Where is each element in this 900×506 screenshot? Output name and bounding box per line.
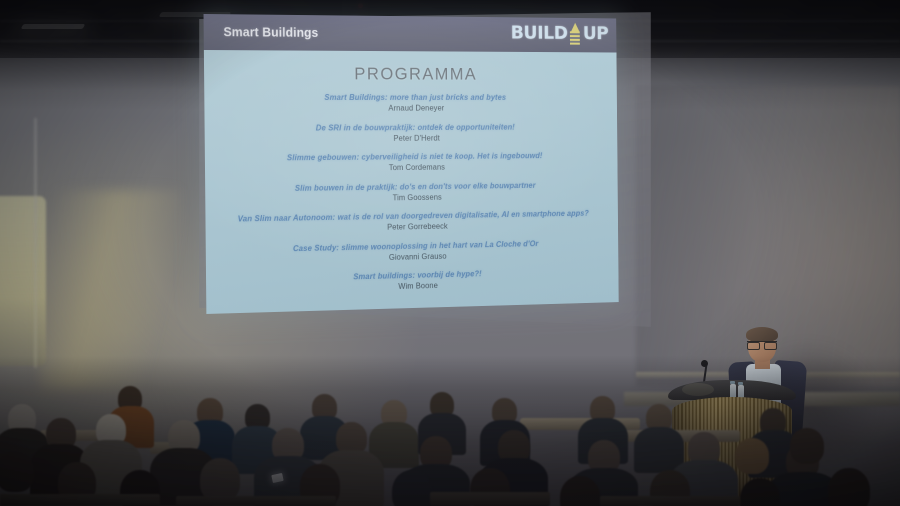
microphone-icon (701, 360, 708, 367)
program-speaker: Peter D'Herdt (205, 131, 618, 145)
program-item: Van Slim naar Autonoom: wat is de rol va… (205, 208, 618, 237)
tower-icon (568, 22, 582, 44)
warm-light-beam (40, 190, 180, 390)
bench-row (430, 492, 550, 506)
bench-row (0, 494, 160, 506)
audience-head (828, 468, 870, 506)
logo-word-build: BUILD (511, 22, 568, 44)
program-topic: Smart Buildings: more than just bricks a… (204, 93, 617, 103)
wall-left-edge (34, 118, 37, 368)
audience-head (0, 452, 34, 492)
program-item: De SRI in de bouwpraktijk: ontdek de opp… (205, 122, 618, 146)
program-speaker: Arnaud Deneyer (204, 103, 617, 115)
slide-body: PROGRAMMA Smart Buildings: more than jus… (204, 50, 619, 298)
program-item: Smart buildings: voorbij de hype?! Wim B… (206, 266, 619, 298)
program-item: Case Study: slimme woonoplossing in het … (206, 237, 619, 267)
slide-header: Smart Buildings BUILD UP (204, 14, 617, 53)
projector-indicator-light (358, 3, 363, 8)
program-item: Slimme gebouwen: cyberveiligheid is niet… (205, 151, 618, 176)
presenter-hair (746, 327, 778, 342)
slide-title: PROGRAMMA (204, 63, 617, 85)
water-bottle-cap (738, 382, 743, 385)
bench-row (176, 496, 336, 506)
presentation-room-scene: Smart Buildings BUILD UP PROGRAMMA (0, 0, 900, 506)
ceiling-light-1 (21, 24, 86, 29)
eyeglasses-icon (747, 341, 777, 347)
build-up-logo: BUILD UP (511, 22, 609, 45)
audience-head (392, 470, 432, 506)
slide-header-title: Smart Buildings (223, 25, 318, 40)
water-bottle-cap (730, 381, 735, 384)
program-speaker: Tom Cordemans (205, 160, 618, 176)
program-item: Smart Buildings: more than just bricks a… (204, 93, 617, 115)
slide: Smart Buildings BUILD UP PROGRAMMA (204, 14, 619, 314)
projection-screen: Smart Buildings BUILD UP PROGRAMMA (204, 14, 619, 324)
audience-head (735, 438, 769, 474)
logo-word-up: UP (583, 23, 609, 44)
bench-row (600, 496, 740, 506)
audience-head (790, 428, 824, 464)
program-item: Slim bouwen in de praktijk: do's en don'… (205, 180, 618, 207)
podium-top-recess (682, 383, 714, 396)
